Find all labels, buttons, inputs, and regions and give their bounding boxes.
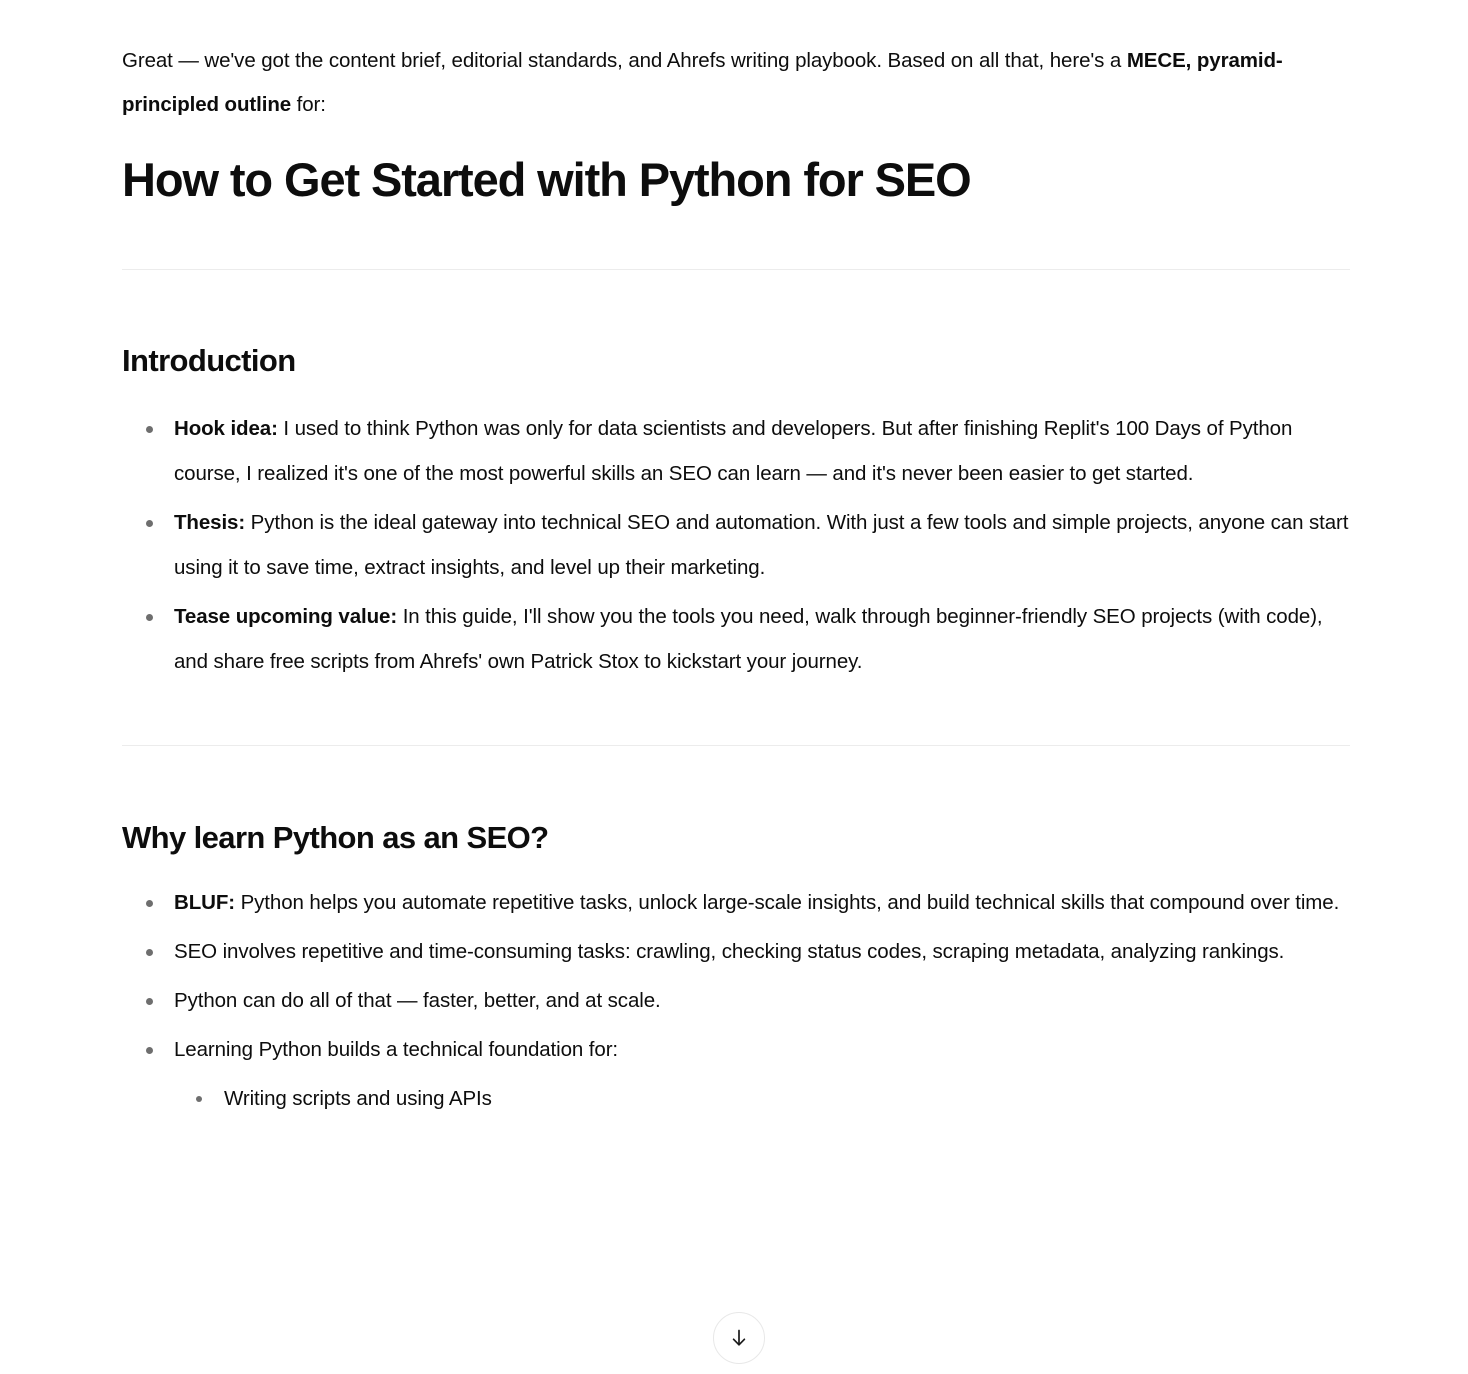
intro-paragraph: Great — we've got the content brief, edi… <box>122 0 1322 127</box>
section-heading-why-learn-python: Why learn Python as an SEO? <box>122 746 1350 857</box>
bullet-text: Python is the ideal gateway into technic… <box>174 511 1348 579</box>
intro-paragraph-part2: for: <box>291 93 326 116</box>
page-title: How to Get Started with Python for SEO <box>122 127 1350 209</box>
nested-bullet-list: Writing scripts and using APIs <box>174 1076 1350 1121</box>
section-heading-introduction: Introduction <box>122 270 1350 380</box>
document-content: Great — we've got the content brief, edi… <box>122 0 1350 1121</box>
list-item: Hook idea: I used to think Python was on… <box>122 406 1350 496</box>
bullet-lead-label: Hook idea: <box>174 417 278 440</box>
list-item: SEO involves repetitive and time-consumi… <box>122 929 1350 974</box>
bullet-lead-label: Thesis: <box>174 511 245 534</box>
list-item: BLUF: Python helps you automate repetiti… <box>122 880 1350 925</box>
why-learn-python-bullet-list: BLUF: Python helps you automate repetiti… <box>122 857 1350 1121</box>
list-item: Tease upcoming value: In this guide, I'l… <box>122 594 1350 684</box>
scroll-to-bottom-button[interactable] <box>713 1312 765 1364</box>
bullet-text: Python helps you automate repetitive tas… <box>235 891 1339 914</box>
bullet-lead-label: Tease upcoming value: <box>174 605 397 628</box>
list-item: Thesis: Python is the ideal gateway into… <box>122 500 1350 590</box>
bullet-text: Learning Python builds a technical found… <box>174 1038 618 1061</box>
intro-paragraph-part1: Great — we've got the content brief, edi… <box>122 49 1127 72</box>
bullet-text: SEO involves repetitive and time-consumi… <box>174 940 1284 963</box>
list-item: Python can do all of that — faster, bett… <box>122 978 1350 1023</box>
list-item: Writing scripts and using APIs <box>174 1076 1350 1121</box>
list-item: Learning Python builds a technical found… <box>122 1027 1350 1121</box>
arrow-down-icon <box>728 1327 750 1349</box>
bullet-text: I used to think Python was only for data… <box>174 417 1292 485</box>
document-page: Great — we've got the content brief, edi… <box>0 0 1468 1374</box>
introduction-bullet-list: Hook idea: I used to think Python was on… <box>122 380 1350 684</box>
bullet-text: Python can do all of that — faster, bett… <box>174 989 661 1012</box>
bullet-lead-label: BLUF: <box>174 891 235 914</box>
